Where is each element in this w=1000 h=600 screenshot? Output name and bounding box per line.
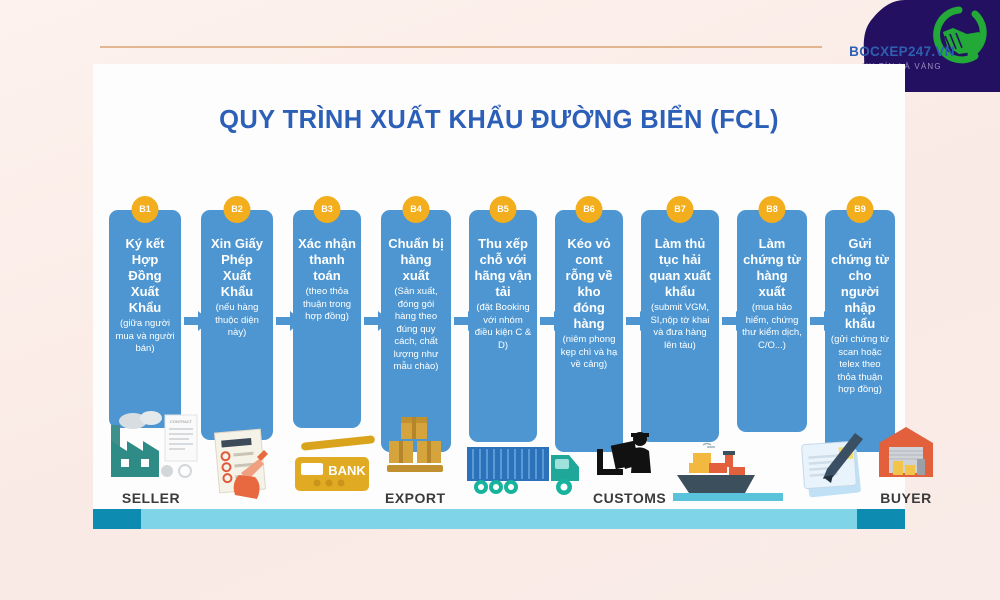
step-title: Thu xếp chỗ với hãng vận tải xyxy=(474,236,532,300)
customs-officer-icon xyxy=(593,427,666,490)
step-title: Làm thủ tục hải quan xuất khẩu xyxy=(646,236,714,300)
step-description: (gửi chứng từ scan hoặc telex theo thỏa … xyxy=(830,334,890,397)
footer-bar-cap-right xyxy=(857,509,905,529)
container-truck-icon xyxy=(465,441,591,506)
illustration-documents-pen xyxy=(793,429,877,506)
illustration-factory-seller: CONTRACTSELLER xyxy=(103,407,199,506)
step-badge-b6: B6 xyxy=(576,196,603,223)
footer-bar xyxy=(93,509,905,529)
step-description: (theo thỏa thuận trong hợp đồng) xyxy=(298,286,356,324)
contract-checklist-icon xyxy=(211,427,281,506)
process-step-b3[interactable]: B3Xác nhận thanh toán(theo thỏa thuận tr… xyxy=(293,210,361,428)
process-step-b1[interactable]: B1Ký kết Hợp Đồng Xuất Khẩu(giữa người m… xyxy=(109,210,181,428)
brand-name: BOCXEP247.VN xyxy=(812,44,992,59)
illustration-cargo-ship xyxy=(673,437,783,506)
step-title: Làm chứng từ hàng xuất xyxy=(742,236,802,300)
process-step-b8[interactable]: B8Làm chứng từ hàng xuất(mua bảo hiểm, c… xyxy=(737,210,807,432)
illustration-label: SELLER xyxy=(103,490,199,506)
process-step-b5[interactable]: B5Thu xếp chỗ với hãng vận tải(đặt Booki… xyxy=(469,210,537,442)
svg-text:CONTRACT: CONTRACT xyxy=(170,419,193,424)
cargo-ship-icon xyxy=(673,437,783,506)
process-step-b2[interactable]: B2Xin Giấy Phép Xuất Khẩu(nếu hàng thuộc… xyxy=(201,210,273,440)
illustration-export-boxes: EXPORT xyxy=(385,413,446,506)
illustration-bank: BANK xyxy=(291,435,377,506)
step-badge-b8: B8 xyxy=(759,196,786,223)
illustration-contract-checklist xyxy=(211,427,281,506)
step-title: Gửi chứng từ cho người nhập khẩu xyxy=(830,236,890,332)
step-badge-b5: B5 xyxy=(490,196,517,223)
illustration-label: CUSTOMS xyxy=(593,490,666,506)
step-badge-b9: B9 xyxy=(847,196,874,223)
step-title: Xác nhận thanh toán xyxy=(298,236,356,284)
illustration-label: BUYER xyxy=(875,490,937,506)
content-card: QUY TRÌNH XUẤT KHẨU ĐƯỜNG BIỂN (FCL) B1K… xyxy=(93,64,905,528)
step-description: (đặt Booking với nhóm điều kiện C & D) xyxy=(474,302,532,352)
illustration-warehouse-buyer: BUYER xyxy=(875,423,937,506)
step-badge-b7: B7 xyxy=(667,196,694,223)
step-title: Chuẩn bị hàng xuất xyxy=(386,236,446,284)
step-description: (giữa người mua và người bán) xyxy=(114,318,176,356)
footer-bar-cap-left xyxy=(93,509,141,529)
step-description: (nếu hàng thuộc diện này) xyxy=(206,302,268,340)
step-description: (Sản xuất, đóng gói hàng theo đúng quy c… xyxy=(386,286,446,374)
step-title: Ký kết Hợp Đồng Xuất Khẩu xyxy=(114,236,176,316)
slide-background: BOCXEP247.VN UY TÍN LÀ VÀNG QUY TRÌNH XU… xyxy=(0,0,1000,600)
decorative-rule xyxy=(100,46,822,48)
factory-seller-icon: CONTRACT xyxy=(103,407,199,490)
warehouse-buyer-icon xyxy=(875,423,937,490)
step-badge-b3: B3 xyxy=(314,196,341,223)
step-badge-b4: B4 xyxy=(403,196,430,223)
step-description: (submit VGM, SI,nộp tờ khai và đưa hàng … xyxy=(646,302,714,352)
step-badge-b1: B1 xyxy=(132,196,159,223)
svg-text:BANK: BANK xyxy=(328,463,366,478)
process-step-b7[interactable]: B7Làm thủ tục hải quan xuất khẩu(submit … xyxy=(641,210,719,442)
step-badge-b2: B2 xyxy=(224,196,251,223)
illustration-container-truck xyxy=(465,441,591,506)
step-description: (mua bảo hiểm, chứng thư kiểm dịch, C/O.… xyxy=(742,302,802,352)
step-title: Kéo vỏ cont rỗng về kho đóng hàng xyxy=(560,236,618,332)
export-boxes-icon xyxy=(385,413,446,490)
illustration-customs-officer: CUSTOMS xyxy=(593,427,666,506)
illustration-label: EXPORT xyxy=(385,490,446,506)
illustration-strip: CONTRACTSELLERBANKEXPORTCUSTOMSBUYER xyxy=(93,414,905,506)
step-title: Xin Giấy Phép Xuất Khẩu xyxy=(206,236,268,300)
step-description: (niêm phong kẹp chì và hạ về cảng) xyxy=(560,334,618,372)
page-title: QUY TRÌNH XUẤT KHẨU ĐƯỜNG BIỂN (FCL) xyxy=(93,106,905,135)
bank-icon: BANK xyxy=(291,435,377,506)
documents-pen-icon xyxy=(793,429,877,506)
